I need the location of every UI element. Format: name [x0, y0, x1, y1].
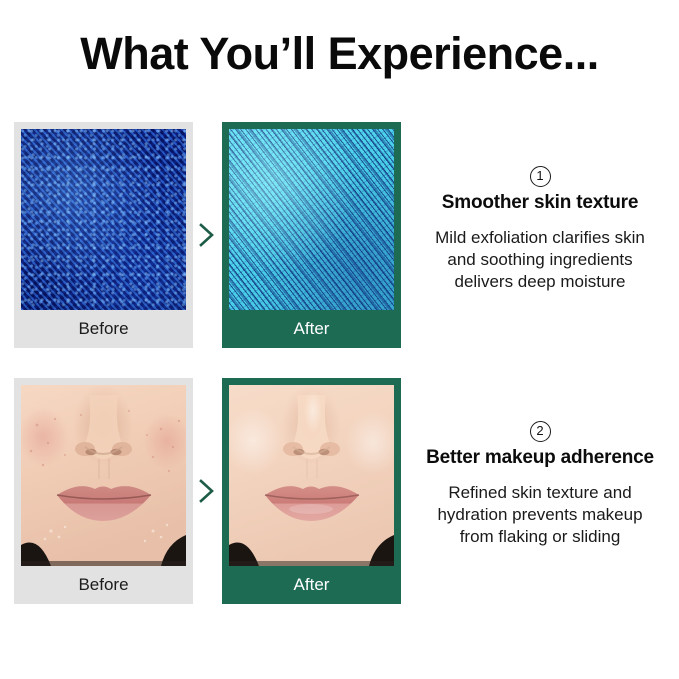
benefit-body-line: Refined skin texture and: [412, 482, 668, 504]
after-card-makeup: After: [222, 378, 401, 604]
face-before-image: [21, 385, 186, 566]
before-label: Before: [21, 566, 186, 604]
benefit-body-line: hydration prevents makeup: [412, 504, 668, 526]
benefit-body-line: Mild exfoliation clarifies skin: [412, 227, 668, 249]
benefit-heading: Better makeup adherence: [412, 447, 668, 470]
benefit-body-line: delivers deep moisture: [412, 271, 668, 293]
promo-infographic: What You’ll Experience... Before After: [0, 0, 679, 679]
uv-texture-after-image: [229, 129, 394, 310]
before-label: Before: [21, 310, 186, 348]
chevron-right-icon: [196, 477, 218, 505]
benefit-block-1: 1 Smoother skin texture Mild exfoliation…: [412, 166, 668, 293]
benefit-heading: Smoother skin texture: [412, 192, 668, 215]
after-card-skin-texture: After: [222, 122, 401, 348]
chevron-right-icon: [196, 221, 218, 249]
benefit-number-badge: 2: [530, 421, 551, 442]
benefit-body: Mild exfoliation clarifies skin and soot…: [412, 227, 668, 293]
before-card-skin-texture: Before: [14, 122, 193, 348]
before-card-makeup: Before: [14, 378, 193, 604]
page-title: What You’ll Experience...: [0, 28, 679, 80]
after-label: After: [229, 310, 394, 348]
uv-texture-before-image: [21, 129, 186, 310]
benefit-body-line: and soothing ingredients: [412, 249, 668, 271]
benefit-body-line: from flaking or sliding: [412, 526, 668, 548]
before-photo-makeup: [21, 385, 186, 566]
benefit-body: Refined skin texture and hydration preve…: [412, 482, 668, 548]
benefit-number-badge: 1: [530, 166, 551, 187]
face-after-image: [229, 385, 394, 566]
after-photo-makeup: [229, 385, 394, 566]
benefit-block-2: 2 Better makeup adherence Refined skin t…: [412, 421, 668, 548]
after-photo-skin-texture: [229, 129, 394, 310]
before-photo-skin-texture: [21, 129, 186, 310]
after-label: After: [229, 566, 394, 604]
